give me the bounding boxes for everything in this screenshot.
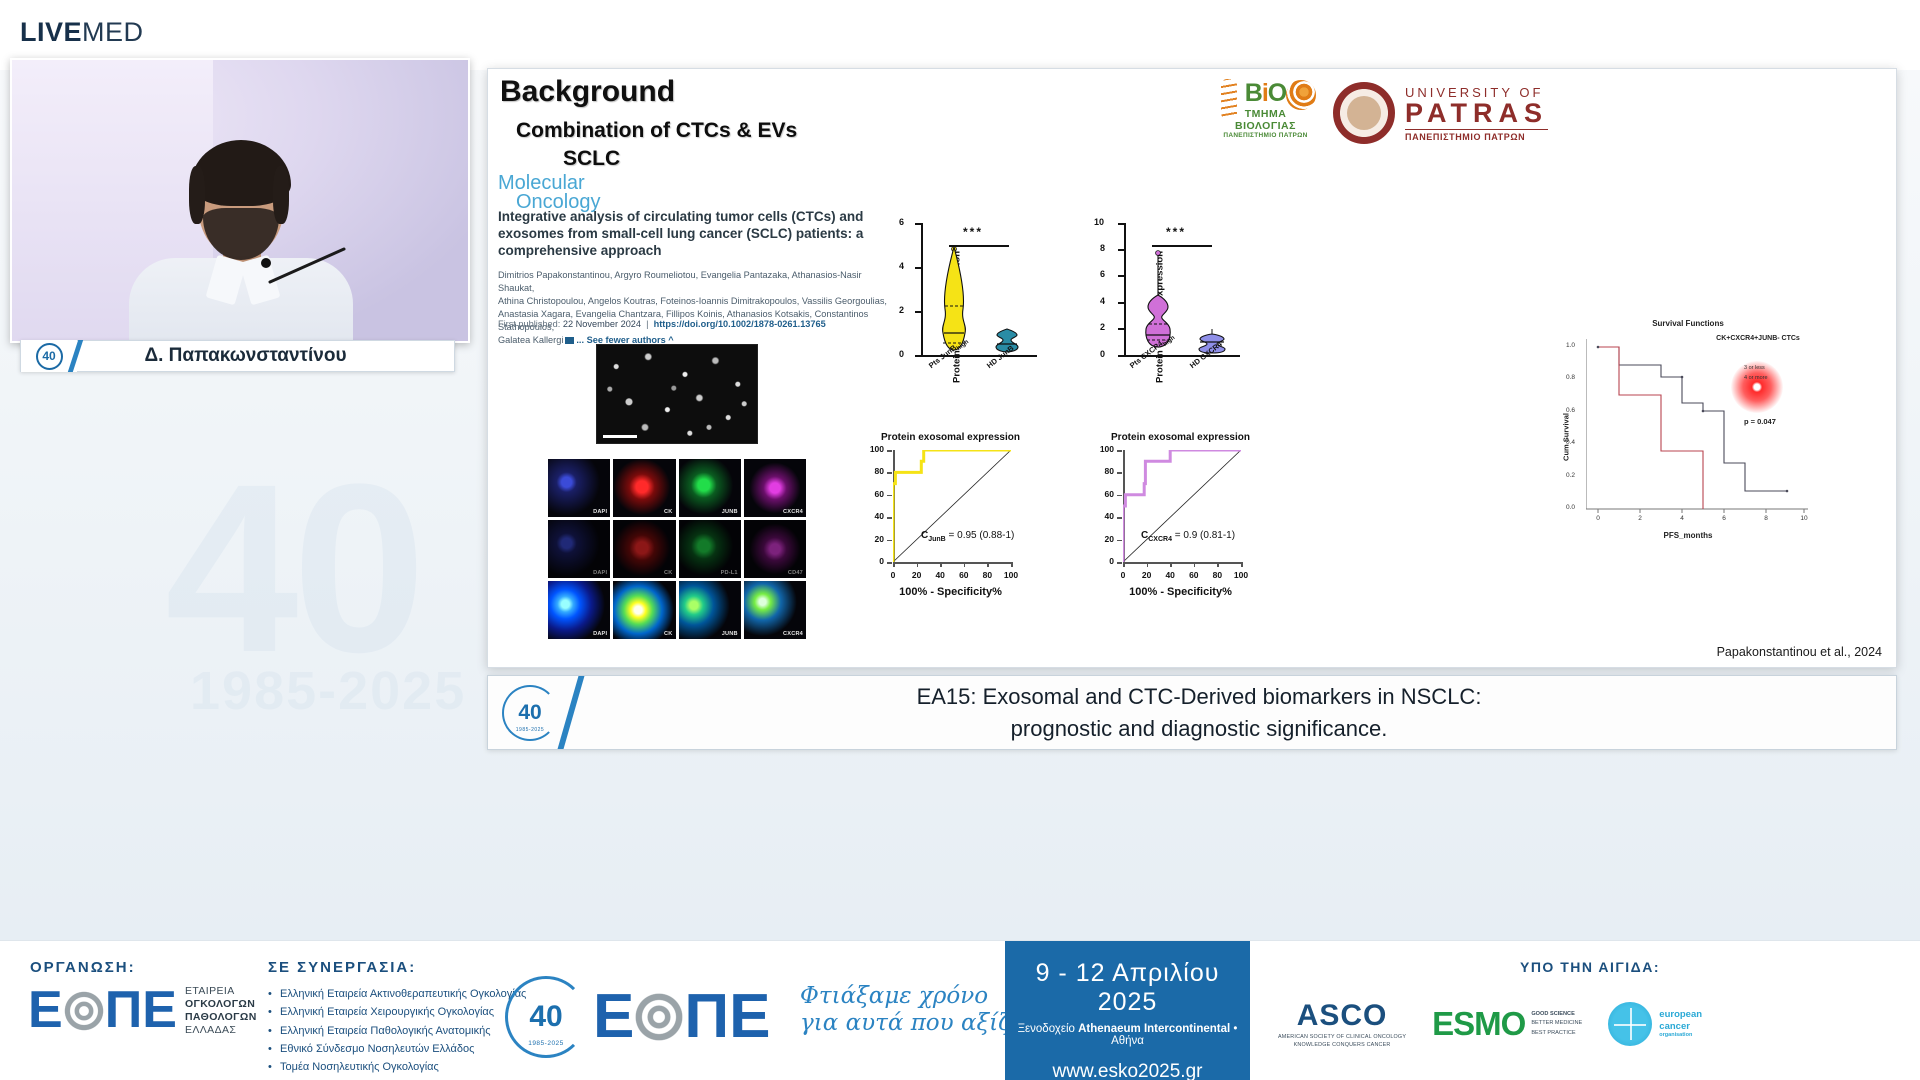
slide-title: Background [500,75,675,109]
speaker-hair-left [189,166,205,224]
speaker-hair-right [273,166,289,224]
roc-cxcr4-xtick-60: 60 [1189,570,1198,580]
if-panel: CXCR4 [744,581,806,639]
esmo-tagline-3: BEST PRACTICE [1531,1029,1582,1039]
if-panel-label: DAPI [593,570,607,576]
survival-xtick-0: 0 [1596,515,1600,522]
if-panel: CK [613,581,675,639]
biology-department-logo: BiO ΤΜΗΜΑ ΒΙΟΛΟΓΙΑΣ ΠΑΝΕΠΙΣΤΗΜΙΟ ΠΑΤΡΩΝ [1213,79,1318,149]
roc-junb-ytick-100: 100 [870,444,884,454]
congress-years: 1985-2025 [528,1040,564,1047]
survival-ytick-0.0: 0.0 [1566,504,1575,511]
violin-junb-ytick-2: 2 [899,305,904,315]
violin-junb-shapes [921,223,1039,357]
roc-cxcr4-curve [1123,450,1241,562]
session-badge-years: 1985-2025 [516,727,544,733]
roc-cxcr4-xtick-40: 40 [1165,570,1174,580]
violin-cxcr4-ytick-4: 4 [1100,296,1105,306]
roc-cxcr4-ytick-0: 0 [1109,556,1114,566]
roc-cxcr4-xtick-100: 100 [1234,570,1248,580]
if-panel-label: DAPI [593,631,607,637]
congress-40-icon: 40 [36,343,63,370]
survival-pvalue: p = 0.047 [1744,417,1776,426]
roc-junb-xtick-100: 100 [1004,570,1018,580]
aegis-logos-row: ASCO AMERICAN SOCIETY OF CLINICAL ONCOLO… [1270,989,1910,1059]
nameplate-badge: 40 [21,340,77,372]
roc-cxcr4-auc-sub: CXCR4 [1148,536,1172,543]
sponsor-footer: ΟΡΓΑΝΩΣΗ: E Π E ΕΤΑΙΡΕΙΑ ΟΓΚΟΛΟΓΩΝ ΠΑΘΟΛ… [0,940,1920,1080]
survival-ytick-0.8: 0.8 [1566,374,1575,381]
roc-junb-xtick-80: 80 [983,570,992,580]
speaker-name: Δ. Παπακωνσταντίνου [77,345,454,367]
roc-junb-title: Protein exosomal expression [863,432,1038,443]
aegis-block: ΥΠΟ ΤΗΝ ΑΙΓΙΔΑ: ASCO AMERICAN SOCIETY OF… [1270,959,1910,975]
eope-letter-e2: E [142,990,177,1032]
survival-xtick-6: 6 [1722,515,1726,522]
if-panel-label: CK [664,509,672,515]
if-panel: CXCR4 [744,459,806,517]
survival-legend-title: CK+CXCR4+JUNB- CTCs [1698,335,1818,344]
survival-ytick-0.4: 0.4 [1566,439,1575,446]
eco-line-1: european [1659,1009,1702,1020]
congress-spiral-icon [631,989,687,1045]
bio-logo-line2: ΒΙΟΛΟΓΙΑΣ [1213,120,1318,132]
congress-letter-p: Π [684,992,729,1042]
logo-live-text: LIVE [20,17,82,47]
university-wordmark: UNIVERSITY OF PATRAS ΠΑΝΕΠΙΣΤΗΜΙΟ ΠΑΤΡΩΝ [1405,85,1548,142]
roc-junb-auc-annotation: CJunB = 0.95 (0.88-1) [921,530,1014,543]
bio-logo-line3: ΠΑΝΕΠΙΣΤΗΜΙΟ ΠΑΤΡΩΝ [1213,132,1318,139]
violin-cxcr4-ytick-8: 8 [1100,243,1105,253]
if-panel: DAPI [548,581,610,639]
venue-name: Athenaeum Intercontinental [1078,1023,1230,1035]
watermark-years: 1985-2025 [190,660,466,722]
authors-line-1: Dimitrios Papakonstantinou, Argyro Roume… [498,269,898,295]
survival-ylabel: Cum Survival [1561,413,1570,461]
congress-eope-mark: E Π E [593,989,771,1045]
violin-junb-ytick-0: 0 [899,349,904,359]
roc-cxcr4-xtick-0: 0 [1121,570,1126,580]
survival-chart: Survival Functions Cum Survival [1548,319,1828,554]
patras-line3: ΠΑΝΕΠΙΣΤΗΜΙΟ ΠΑΤΡΩΝ [1405,129,1548,142]
eope-word-3: ΠΑΘΟΛΟΓΩΝ [185,1011,257,1024]
eope-letter-p: Π [105,990,143,1032]
survival-xtick-10: 10 [1800,515,1807,522]
roc-cxcr4-xlabel: 100% - Specificity% [1093,586,1268,598]
survival-xtick-8: 8 [1764,515,1768,522]
violin-cxcr4-ytick-10: 10 [1094,217,1104,227]
article-publication-info: First published: 22 November 2024 | http… [498,319,826,329]
slide-subtitle-2: SCLC [563,147,620,171]
cooperation-list: Ελληνική Εταιρεία Ακτινοθεραπευτικής Ογκ… [268,985,526,1076]
speaker-nameplate: 40 Δ. Παπακωνσταντίνου [20,340,455,372]
session-title: EA15: Exosomal and CTC-Derived biomarker… [572,681,1896,743]
if-panel-label: JUNB [722,631,738,637]
survival-xlabel: PFS_months [1548,531,1828,540]
speaker-beard [203,208,279,260]
date-venue-block: 9 - 12 Απριλίου 2025 Ξενοδοχείο Athenaeu… [1005,941,1250,1080]
violin-junb-ytick-6: 6 [899,217,904,227]
coop-item: Εθνικό Σύνδεσμο Νοσηλευτών Ελλάδος [268,1040,526,1058]
session-badge-number: 40 [518,701,541,725]
roc-junb-xtick-20: 20 [912,570,921,580]
slide-citation: Papakonstantinou et al., 2024 [1717,645,1882,659]
eco-wordmark: european cancer organisation [1659,1009,1702,1038]
esmo-logo: ESMO GOOD SCIENCE BETTER MEDICINE BEST P… [1432,1005,1582,1043]
esmo-tagline-1: GOOD SCIENCE [1531,1011,1575,1017]
corresponding-author: Galatea Kallergi [498,335,563,345]
survival-legend-item-2: 4 or more [1744,375,1768,381]
congress-40-ring-icon: 40 1985-2025 [502,685,558,741]
session-title-line2: prognostic and diagnostic significance. [572,713,1826,744]
if-panel-label: CXCR4 [783,509,803,515]
esmo-tagline-2: BETTER MEDICINE [1531,1019,1582,1029]
violin-chart-cxcr4: Protein exosomal expression 0 2 4 6 8 10… [1096,217,1256,417]
speaker-figure [115,146,365,343]
university-seal-icon [1333,82,1395,144]
tem-micrograph-image [596,344,758,444]
eope-wordmark: ΕΤΑΙΡΕΙΑ ΟΓΚΟΛΟΓΩΝ ΠΑΘΟΛΟΓΩΝ ΕΛΛΑΔΑΣ [185,985,257,1038]
roc-cxcr4-ytick-20: 20 [1105,534,1114,544]
aegis-heading: ΥΠΟ ΤΗΝ ΑΙΓΙΔΑ: [1270,959,1910,975]
survival-ytick-0.6: 0.6 [1566,407,1575,414]
if-panel-label: CK [664,631,672,637]
university-of-patras-logo: UNIVERSITY OF PATRAS ΠΑΝΕΠΙΣΤΗΜΙΟ ΠΑΤΡΩΝ [1333,77,1588,149]
roc-junb-xtick-0: 0 [891,570,896,580]
survival-ytick-0.2: 0.2 [1566,472,1575,479]
european-cancer-organisation-logo: european cancer organisation [1608,1002,1702,1046]
congress-number: 40 [529,1000,562,1034]
roc-junb-ytick-40: 40 [875,511,884,521]
envelope-icon[interactable] [565,337,574,344]
roc-cxcr4-title: Protein exosomal expression [1093,432,1268,443]
first-published-label: First published: [498,319,560,329]
venue-prefix: Ξενοδοχείο [1018,1023,1075,1035]
eope-word-2: ΟΓΚΟΛΟΓΩΝ [185,998,257,1011]
organizer-heading: ΟΡΓΑΝΩΣΗ: [30,959,136,976]
roc-junb-ytick-80: 80 [875,466,884,476]
survival-ytick-1.0: 1.0 [1566,342,1575,349]
roc-cxcr4-ytick-40: 40 [1105,511,1114,521]
roc-cxcr4-ytick-100: 100 [1100,444,1114,454]
livemed-logo: LIVEMED [20,17,144,48]
eope-word-4: ΕΛΛΑΔΑΣ [185,1024,257,1037]
asco-name: ASCO [1297,999,1388,1033]
session-title-line1: EA15: Exosomal and CTC-Derived biomarker… [572,681,1826,712]
session-badge: 40 1985-2025 [488,676,572,749]
eco-line-2: cancer [1659,1021,1702,1032]
spiral-icon [61,988,107,1034]
if-panel: PD-L1 [679,520,741,578]
roc-cxcr4-ytick-80: 80 [1105,466,1114,476]
roc-chart-cxcr4: Protein exosomal expression 0 20 40 60 8… [1093,434,1268,634]
esmo-taglines: GOOD SCIENCE BETTER MEDICINE BEST PRACTI… [1531,1010,1582,1039]
roc-junb-xaxis [893,562,1011,564]
violin-cxcr4-ytick-0: 0 [1100,349,1105,359]
roc-junb-xlabel: 100% - Specificity% [863,586,1038,598]
eope-word-1: ΕΤΑΙΡΕΙΑ [185,985,257,998]
congress-website[interactable]: www.esko2025.gr [1005,1061,1250,1080]
violin-junb-ytick-4: 4 [899,261,904,271]
survival-curves [1586,339,1808,517]
asco-tagline-1: AMERICAN SOCIETY OF CLINICAL ONCOLOGY [1278,1033,1406,1041]
roc-cxcr4-auc-value: = 0.9 (0.81-1) [1175,530,1235,541]
survival-legend-item-1: 3 or less [1744,365,1765,371]
congress-dates: 9 - 12 Απριλίου 2025 [1005,959,1250,1017]
eco-line-3: organisation [1659,1032,1702,1039]
congress-letter-e2: E [729,992,770,1042]
speaker-video[interactable] [10,58,470,343]
asco-logo: ASCO AMERICAN SOCIETY OF CLINICAL ONCOLO… [1278,999,1406,1049]
roc-cxcr4-auc-annotation: CCXCR4 = 0.9 (0.81-1) [1141,530,1235,543]
eope-logo: E Π E ΕΤΑΙΡΕΙΑ ΟΓΚΟΛΟΓΩΝ ΠΑΘΟΛΟΓΩΝ ΕΛΛΑΔ… [28,985,257,1038]
globe-icon [1608,1002,1652,1046]
roc-cxcr4-ytick-60: 60 [1105,489,1114,499]
roc-junb-ytick-0: 0 [879,556,884,566]
patras-line2: PATRAS [1405,100,1548,127]
logo-med-text: MED [82,17,144,47]
if-panel: JUNB [679,581,741,639]
congress-logo: 40 1985-2025 E Π E [505,967,795,1067]
roc-junb-xtick-60: 60 [959,570,968,580]
if-panel-label: CXCR4 [783,631,803,637]
congress-venue: Ξενοδοχείο Athenaeum Intercontinental • … [1005,1023,1250,1047]
roc-junb-curve [893,450,1011,562]
survival-xtick-4: 4 [1680,515,1684,522]
roc-cxcr4-xaxis [1123,562,1241,564]
slide-subtitle-1: Combination of CTCs & EVs [516,119,797,143]
if-panel-label: CD47 [788,570,803,576]
if-panel-label: JUNB [722,509,738,515]
asco-tagline-2: KNOWLEDGE CONQUERS CANCER [1294,1041,1391,1049]
if-panel-label: PD-L1 [721,570,738,576]
congress-40-logo-icon: 40 1985-2025 [505,976,587,1058]
article-authors: Dimitrios Papakonstantinou, Argyro Roume… [498,269,898,347]
if-panel: JUNB [679,459,741,517]
if-panel-label: CK [664,570,672,576]
if-panel: CD47 [744,520,806,578]
coop-item: Ελληνική Εταιρεία Χειρουργικής Ογκολογία… [268,1003,526,1021]
if-panel: CK [613,520,675,578]
if-panel: DAPI [548,459,610,517]
survival-xtick-2: 2 [1638,515,1642,522]
authors-line-2: Athina Christopoulou, Angelos Koutras, F… [498,295,898,308]
eope-mark-icon: E Π E [28,988,177,1034]
roc-junb-auc-value: = 0.95 (0.88-1) [949,530,1015,541]
microphone-icon [261,258,271,268]
doi-link[interactable]: https://doi.org/10.1002/1878-0261.13765 [654,319,826,329]
roc-junb-ytick-20: 20 [875,534,884,544]
roc-junb-xtick-40: 40 [935,570,944,580]
first-published-date: 22 November 2024 [563,319,641,329]
session-title-bar: 40 1985-2025 EA15: Exosomal and CTC-Deri… [487,675,1897,750]
roc-junb-auc-sub: JunB [928,536,946,543]
roc-chart-junb: Protein exosomal expression 0 20 40 60 8… [863,434,1038,634]
if-panel-label: DAPI [593,509,607,515]
journal-masthead: Molecular Oncology [498,174,601,212]
violin-cxcr4-ytick-2: 2 [1100,322,1105,332]
eope-letter-e: E [28,990,63,1032]
coop-item: Ελληνική Εταιρεία Παθολογικής Ανατομικής [268,1022,526,1040]
roc-cxcr4-xtick-20: 20 [1142,570,1151,580]
screen: LIVEMED 40 1985-2025 40 [0,0,1920,1080]
cooperation-heading: ΣΕ ΣΥΝΕΡΓΑΣΙΑ: [268,959,416,976]
ammonite-icon [1286,80,1316,110]
coop-item-sub: Τομέα Νοσηλευτικής Ογκολογίας [268,1058,526,1076]
immunofluorescence-panel-grid: DAPI CK JUNB CXCR4 DAPI CK PD-L1 CD47 DA… [548,459,806,639]
roc-junb-ytick-60: 60 [875,489,884,499]
watermark-40: 40 [165,430,420,706]
dna-icon [1221,79,1237,119]
if-panel: DAPI [548,520,610,578]
violin-cxcr4-shapes [1124,223,1242,357]
roc-cxcr4-xtick-80: 80 [1213,570,1222,580]
presentation-slide[interactable]: Background Combination of CTCs & EVs SCL… [487,68,1897,668]
esmo-name: ESMO [1432,1005,1525,1043]
article-title: Integrative analysis of circulating tumo… [498,209,888,260]
survival-title: Survival Functions [1548,319,1828,328]
if-panel: CK [613,459,675,517]
violin-cxcr4-ytick-6: 6 [1100,269,1105,279]
violin-chart-junb: Protein exosomal expression 0 2 4 6 *** [893,217,1053,417]
congress-letter-e: E [593,992,634,1042]
coop-item: Ελληνική Εταιρεία Ακτινοθεραπευτικής Ογκ… [268,985,526,1003]
